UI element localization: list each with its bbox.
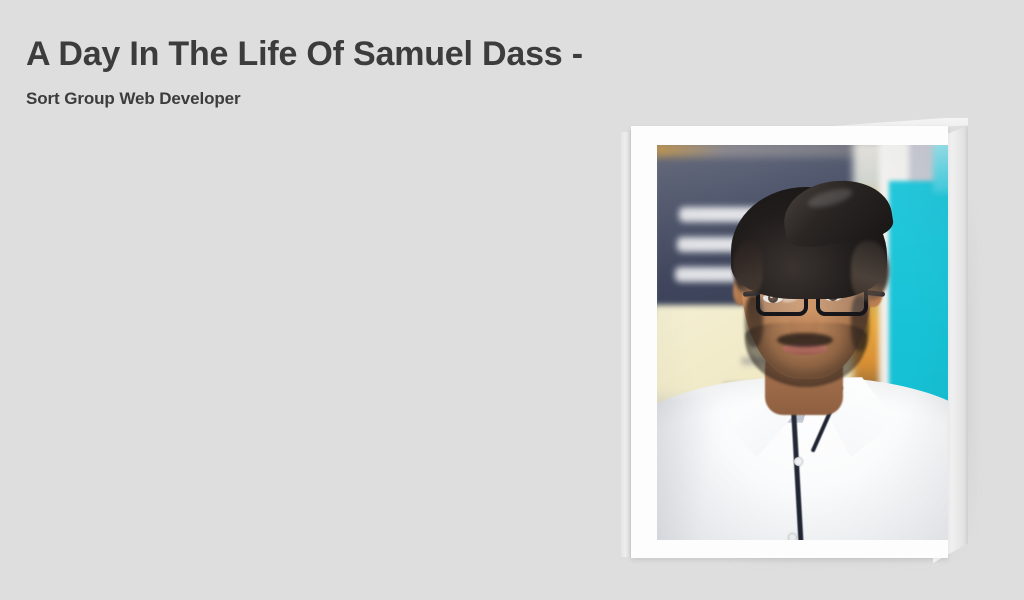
portrait-photo bbox=[657, 145, 948, 540]
subject-shirt-shading bbox=[657, 395, 731, 540]
portrait-photo-mockup bbox=[618, 118, 968, 563]
subject-hair-fade-left bbox=[733, 241, 763, 295]
heading-block: A Day In The Life Of Samuel Dass - Sort … bbox=[26, 34, 726, 110]
page-subtitle: Sort Group Web Developer bbox=[26, 74, 726, 110]
page-title: A Day In The Life Of Samuel Dass - bbox=[26, 34, 726, 74]
page-canvas: A Day In The Life Of Samuel Dass - Sort … bbox=[0, 0, 1024, 600]
mockup-front-face bbox=[631, 126, 948, 558]
subject-shirt-button bbox=[794, 457, 803, 466]
subject-shirt-button bbox=[788, 533, 797, 540]
subject-hair-fade-right bbox=[851, 241, 889, 301]
mockup-spine-edge bbox=[621, 132, 630, 557]
subject-moustache bbox=[777, 333, 833, 347]
portrait-subject bbox=[657, 145, 948, 540]
